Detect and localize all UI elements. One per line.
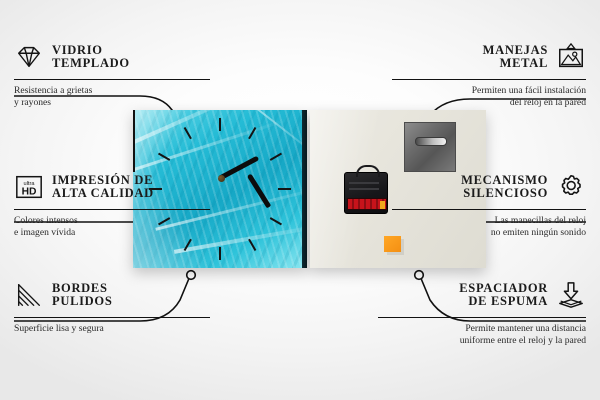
metal-hanger-plate [404, 122, 456, 172]
polished-edges-icon [14, 280, 44, 310]
feature-divider [14, 317, 210, 318]
hour-marker [184, 127, 192, 139]
hour-marker [248, 239, 256, 251]
feature-header: MECANISMO SILENCIOSO [392, 168, 586, 206]
feature-impresion-alta-calidad: ultra HD IMPRESIÓN DE ALTA CALIDAD Color… [14, 168, 210, 238]
feature-mecanismo-silencioso: MECANISMO SILENCIOSO Las manecillas del … [392, 168, 586, 238]
clock-center-pin [218, 175, 225, 182]
hour-marker [270, 217, 282, 225]
feature-header: ESPACIADOR DE ESPUMA [378, 276, 586, 314]
gear-icon [556, 172, 586, 202]
clock-movement [344, 172, 388, 214]
feature-espaciador-espuma: ESPACIADOR DE ESPUMA Permite mantener un… [378, 276, 586, 346]
hour-marker [248, 127, 256, 139]
picture-frame-hanger-icon [556, 42, 586, 72]
feature-title: MECANISMO SILENCIOSO [461, 174, 548, 201]
feature-divider [392, 79, 586, 80]
hanger-slot [415, 137, 447, 146]
hour-marker [219, 118, 221, 131]
hd-label: HD [22, 187, 37, 198]
second-hand [133, 110, 135, 172]
feature-divider [392, 209, 586, 210]
feature-divider [14, 79, 210, 80]
hour-marker [278, 188, 291, 190]
feature-vidrio-templado: VIDRIO TEMPLADO Resistencia a grietas y … [14, 38, 210, 108]
feature-title: IMPRESIÓN DE ALTA CALIDAD [52, 174, 154, 201]
feature-title: MANEJAS METAL [483, 44, 548, 71]
feature-subtitle: Las manecillas del reloj no emiten ningú… [392, 215, 586, 238]
feature-subtitle: Permiten una fácil instalación del reloj… [392, 85, 586, 108]
ultra-hd-icon: ultra HD [14, 172, 44, 202]
diamond-icon [14, 42, 44, 72]
movement-detail [349, 182, 379, 184]
hour-marker [270, 153, 282, 161]
feature-subtitle: Permite mantener una distancia uniforme … [378, 323, 586, 346]
movement-detail [349, 188, 379, 190]
movement-loop [356, 165, 380, 177]
feature-bordes-pulidos: BORDES PULIDOS Superficie lisa y segura [14, 276, 210, 335]
feature-title: BORDES PULIDOS [52, 282, 112, 309]
feature-divider [14, 209, 210, 210]
battery-terminal [380, 201, 385, 209]
feature-subtitle: Colores intensos e imagen vívida [14, 215, 210, 238]
hour-marker [219, 247, 221, 260]
feature-header: VIDRIO TEMPLADO [14, 38, 210, 76]
feature-manejas-metal: MANEJAS METAL Permiten una fácil instala… [392, 38, 586, 108]
infographic-canvas: VIDRIO TEMPLADO Resistencia a grietas y … [0, 0, 600, 400]
hour-marker [158, 153, 170, 161]
feature-header: BORDES PULIDOS [14, 276, 210, 314]
feature-divider [378, 317, 586, 318]
glass-edge [302, 110, 307, 268]
feature-subtitle: Resistencia a grietas y rayones [14, 85, 210, 108]
hour-marker [184, 239, 192, 251]
foam-spacer-arrow-icon [556, 280, 586, 310]
feature-header: ultra HD IMPRESIÓN DE ALTA CALIDAD [14, 168, 210, 206]
foam-spacer [384, 236, 401, 252]
feature-header: MANEJAS METAL [392, 38, 586, 76]
feature-subtitle: Superficie lisa y segura [14, 323, 210, 335]
feature-title: ESPACIADOR DE ESPUMA [459, 282, 548, 309]
hour-hand [247, 173, 271, 208]
feature-title: VIDRIO TEMPLADO [52, 44, 130, 71]
